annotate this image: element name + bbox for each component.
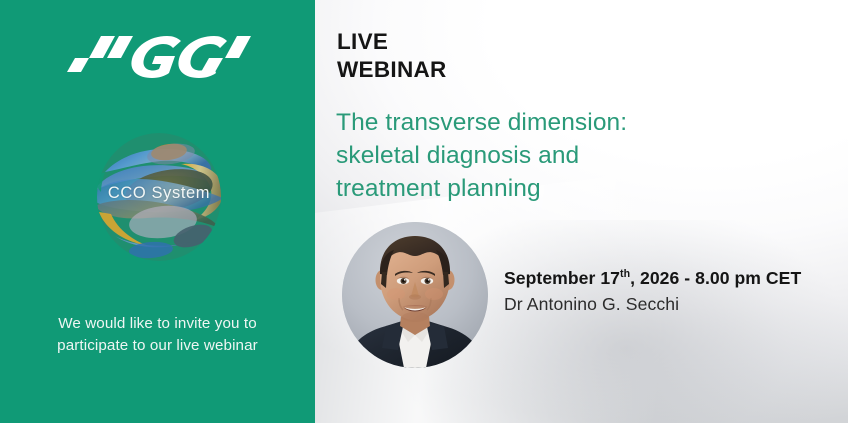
invitation-text: We would like to invite you to participa…	[0, 313, 315, 357]
page-title: The transverse dimension: skeletal diagn…	[336, 106, 736, 205]
page-title-line-3: treatment planning	[336, 172, 736, 205]
event-type-line-2: WEBINAR	[337, 56, 447, 84]
event-type-label: LIVE WEBINAR	[337, 28, 447, 84]
page-title-line-1: The transverse dimension:	[336, 106, 736, 139]
speaker-name: Dr Antonino G. Secchi	[504, 294, 801, 315]
cco-system-globe-icon: CCO System	[89, 128, 229, 266]
invitation-line-1: We would like to invite you to	[0, 313, 315, 335]
gc-logo-icon	[63, 28, 253, 86]
event-type-line-1: LIVE	[337, 28, 447, 56]
content-panel: LIVE WEBINAR The transverse dimension: s…	[315, 0, 848, 423]
speaker-details: September 17th, 2026 - 8.00 pm CET Dr An…	[504, 268, 801, 315]
event-datetime-suffix: , 2026 - 8.00 pm CET	[630, 268, 801, 288]
page-title-line-2: skeletal diagnosis and	[336, 139, 736, 172]
event-datetime-prefix: September 17	[504, 268, 620, 288]
invitation-line-2: participate to our live webinar	[0, 335, 315, 357]
live-webinar-banner: CCO System We would like to invite you t…	[0, 0, 848, 423]
event-datetime-ordinal: th	[620, 268, 630, 280]
brand-panel: CCO System We would like to invite you t…	[0, 0, 315, 423]
avatar	[342, 222, 488, 368]
event-datetime: September 17th, 2026 - 8.00 pm CET	[504, 268, 801, 289]
